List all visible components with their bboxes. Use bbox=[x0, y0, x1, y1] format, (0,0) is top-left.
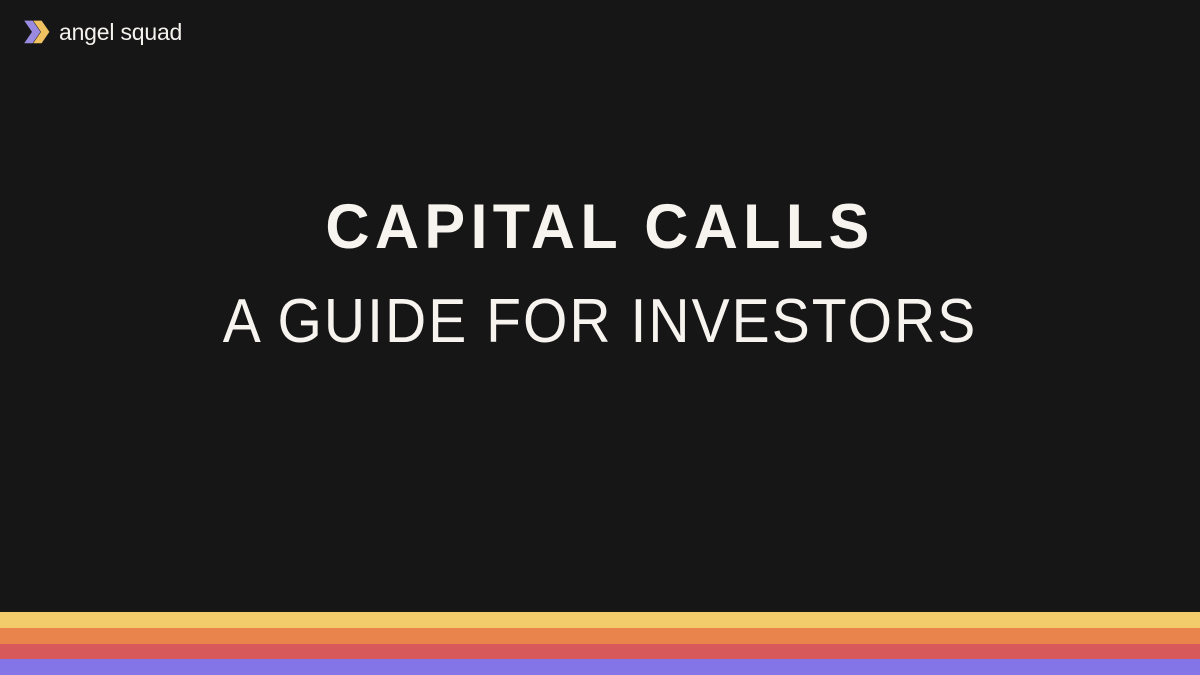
slide-title: CAPITAL CALLS bbox=[18, 196, 1182, 259]
stripe-yellow bbox=[0, 612, 1200, 628]
title-block: CAPITAL CALLS A GUIDE FOR INVESTORS bbox=[0, 196, 1200, 353]
double-chevron-logo-icon bbox=[22, 19, 50, 45]
stripe-orange bbox=[0, 628, 1200, 644]
stripe-red bbox=[0, 644, 1200, 660]
brand-wordmark: angel squad bbox=[59, 21, 182, 44]
title-slide: angel squad CAPITAL CALLS A GUIDE FOR IN… bbox=[0, 0, 1200, 675]
stripe-purple bbox=[0, 659, 1200, 675]
bottom-accent-stripes bbox=[0, 612, 1200, 675]
brand-lockup[interactable]: angel squad bbox=[22, 19, 182, 45]
slide-subtitle: A GUIDE FOR INVESTORS bbox=[48, 291, 1152, 353]
